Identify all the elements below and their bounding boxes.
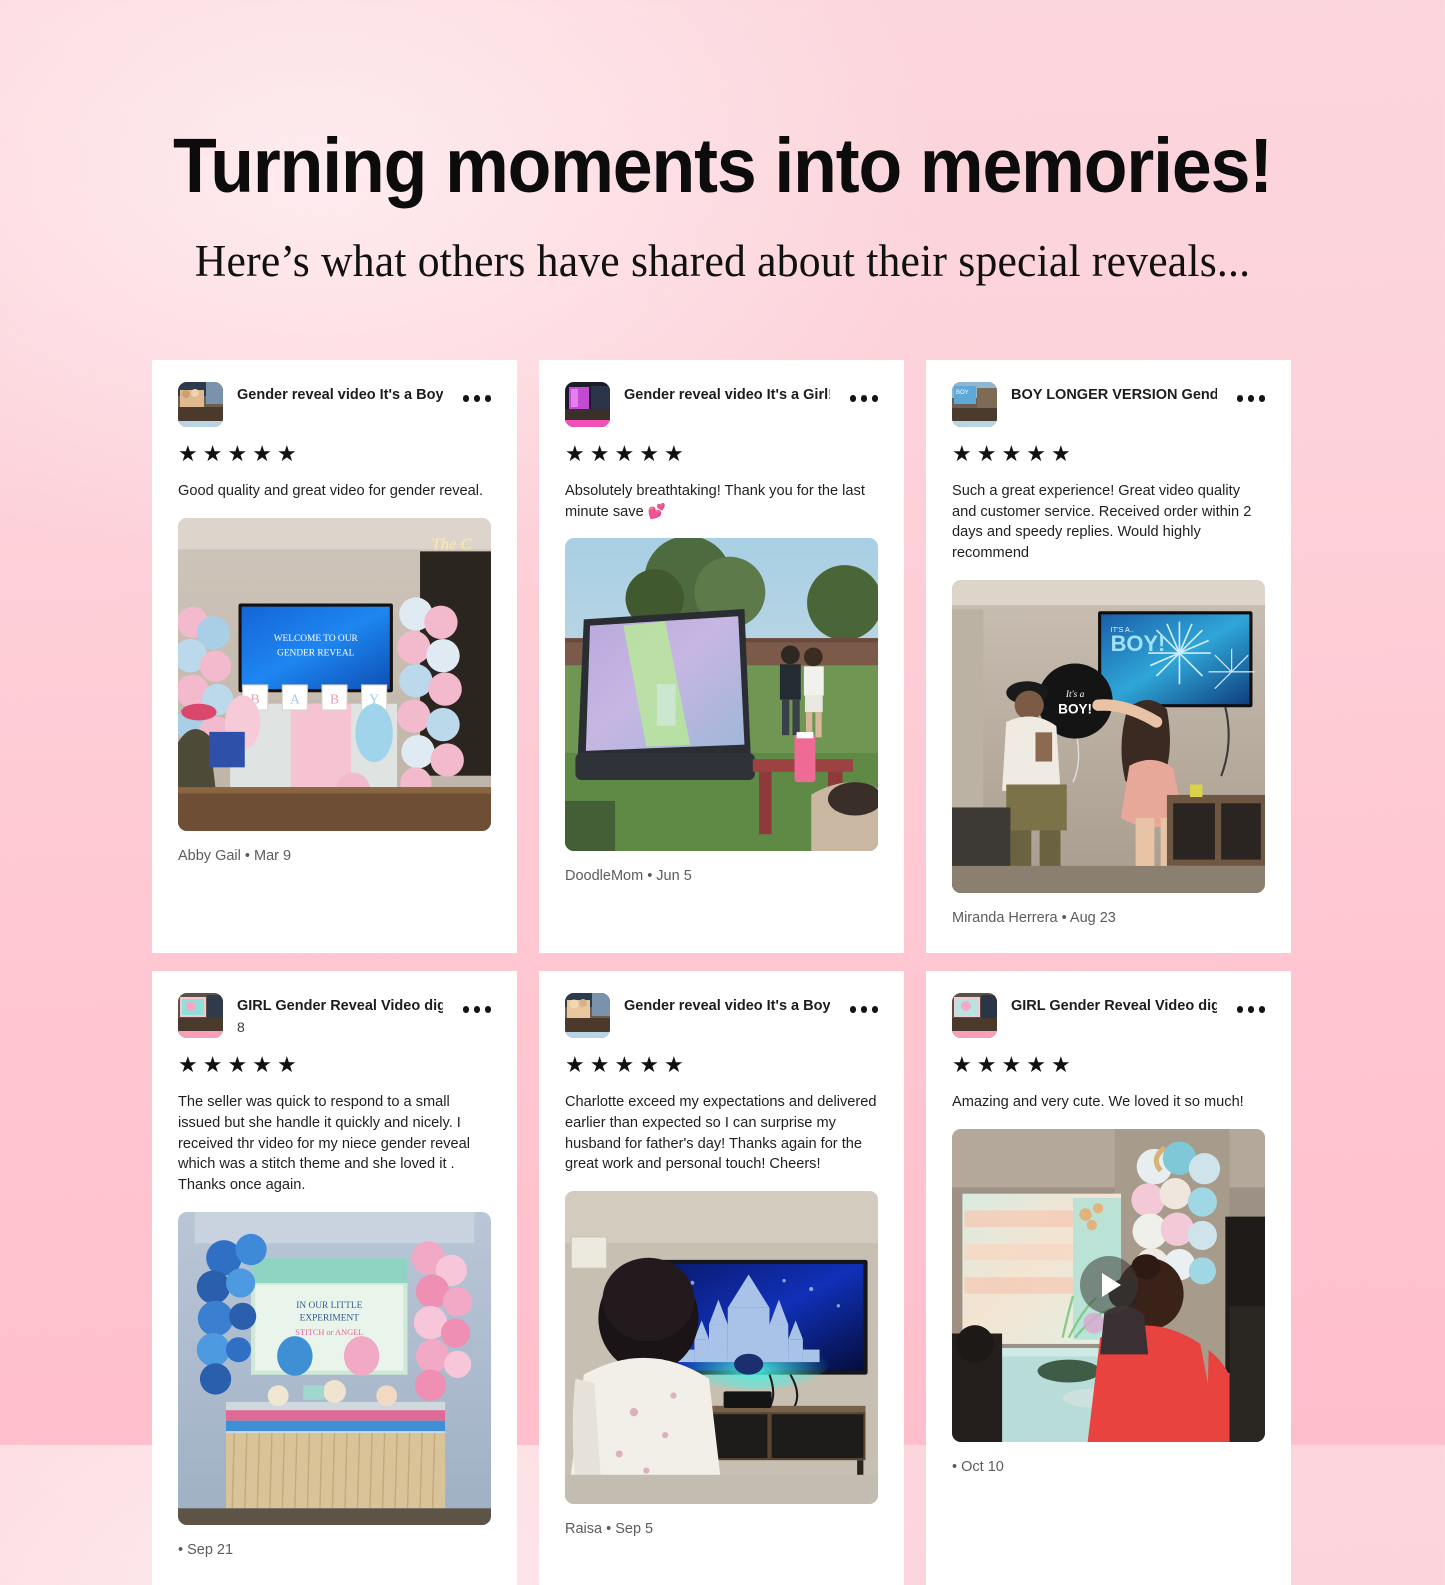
svg-text:IN OUR LITTLE: IN OUR LITTLE [296, 1301, 362, 1311]
review-meta: Abby Gail • Mar 9 [178, 848, 491, 865]
product-thumbnail[interactable] [952, 993, 997, 1038]
svg-text:BOY!: BOY! [1058, 701, 1092, 716]
review-card-header: GIRL Gender Reveal Video digital ... [952, 993, 1265, 1038]
more-horizontal-icon[interactable] [1237, 993, 1266, 1013]
product-thumbnail[interactable] [178, 382, 223, 427]
review-media[interactable]: The C WELCOME TO OUR GENDER REVEAL B A B… [178, 518, 491, 831]
review-text: Such a great experience! Great video qua… [952, 481, 1265, 564]
star-icon: ★ [1051, 443, 1071, 465]
dot [1248, 395, 1255, 402]
svg-text:It's a: It's a [1065, 690, 1085, 700]
star-rating: ★★★★★ [952, 1054, 1265, 1076]
review-photo[interactable]: IT'S A.. BOY! It's a BOY! [952, 580, 1265, 893]
star-icon: ★ [1026, 1054, 1046, 1076]
dot [474, 395, 481, 402]
review-card: Gender reveal video It's a Boy! Vide... … [539, 971, 904, 1585]
review-card: GIRL Gender Reveal Video digital ... 8 ★… [152, 971, 517, 1585]
dot [850, 395, 857, 402]
product-title[interactable]: BOY LONGER VERSION Gender ... [1011, 386, 1217, 405]
star-icon: ★ [565, 443, 585, 465]
review-media[interactable]: IN OUR LITTLE EXPERIMENT STITCH or ANGEL [178, 1212, 491, 1525]
review-media[interactable] [952, 1129, 1265, 1442]
review-meta: Raisa • Sep 5 [565, 1521, 878, 1538]
dot [1259, 1006, 1266, 1013]
star-rating: ★★★★★ [178, 1054, 491, 1076]
product-title[interactable]: Gender reveal video It's a Girl! Vide... [624, 386, 830, 405]
review-text: Charlotte exceed my expectations and del… [565, 1092, 878, 1175]
dot [861, 395, 868, 402]
review-card: BOY BOY LONGER VERSION Gender ... ★★★★★ … [926, 360, 1291, 953]
star-icon: ★ [590, 1054, 610, 1076]
star-icon: ★ [227, 1054, 247, 1076]
dot [1237, 1006, 1244, 1013]
review-meta: DoodleMom • Jun 5 [565, 868, 878, 885]
star-icon: ★ [639, 1054, 659, 1076]
product-thumbnail[interactable] [178, 993, 223, 1038]
star-icon: ★ [614, 443, 634, 465]
star-rating: ★★★★★ [565, 443, 878, 465]
svg-text:The C: The C [432, 534, 473, 553]
dot [474, 1006, 481, 1013]
star-icon: ★ [977, 443, 997, 465]
review-text: Good quality and great video for gender … [178, 481, 491, 502]
review-card: GIRL Gender Reveal Video digital ... ★★★… [926, 971, 1291, 1585]
product-thumbnail[interactable] [565, 993, 610, 1038]
star-icon: ★ [178, 1054, 198, 1076]
review-photo[interactable] [565, 538, 878, 851]
product-thumbnail[interactable] [565, 382, 610, 427]
review-text: Amazing and very cute. We loved it so mu… [952, 1092, 1265, 1113]
star-icon: ★ [565, 1054, 585, 1076]
review-media[interactable]: IT'S A.. BOY! It's a BOY! [952, 580, 1265, 893]
more-horizontal-icon[interactable] [463, 993, 492, 1013]
review-photo[interactable]: IN OUR LITTLE EXPERIMENT STITCH or ANGEL [178, 1212, 491, 1525]
star-icon: ★ [277, 443, 297, 465]
dot [1259, 395, 1266, 402]
product-info: GIRL Gender Reveal Video digital ... 8 [237, 993, 443, 1038]
reviews-grid: Gender reveal video It's a Boy! Vide... … [152, 360, 1292, 1585]
more-horizontal-icon[interactable] [1237, 382, 1266, 402]
dot [872, 1006, 879, 1013]
star-rating: ★★★★★ [952, 443, 1265, 465]
review-card-header: Gender reveal video It's a Boy! Vide... [178, 382, 491, 427]
star-rating: ★★★★★ [178, 443, 491, 465]
star-icon: ★ [227, 443, 247, 465]
star-icon: ★ [952, 1054, 972, 1076]
star-icon: ★ [952, 443, 972, 465]
star-icon: ★ [252, 1054, 272, 1076]
star-icon: ★ [664, 443, 684, 465]
review-media[interactable] [565, 538, 878, 851]
product-title[interactable]: Gender reveal video It's a Boy! Vide... [624, 997, 830, 1016]
star-icon: ★ [664, 1054, 684, 1076]
more-horizontal-icon[interactable] [850, 993, 879, 1013]
star-icon: ★ [277, 1054, 297, 1076]
star-icon: ★ [1026, 443, 1046, 465]
star-icon: ★ [639, 443, 659, 465]
review-card-header: Gender reveal video It's a Boy! Vide... [565, 993, 878, 1038]
review-card-header: GIRL Gender Reveal Video digital ... 8 [178, 993, 491, 1038]
star-icon: ★ [203, 443, 223, 465]
star-icon: ★ [1051, 1054, 1071, 1076]
dot [463, 395, 470, 402]
product-subtitle: 8 [237, 1017, 443, 1038]
page-title: Turning moments into memories! [51, 128, 1395, 205]
product-info: Gender reveal video It's a Boy! Vide... [237, 382, 443, 405]
dot [861, 1006, 868, 1013]
svg-text:A: A [290, 691, 300, 706]
star-icon: ★ [977, 1054, 997, 1076]
review-photo[interactable]: The C WELCOME TO OUR GENDER REVEAL B A B… [178, 518, 491, 831]
dot [485, 1006, 492, 1013]
svg-text:BOY: BOY [956, 390, 969, 396]
dot [850, 1006, 857, 1013]
review-card-header: BOY BOY LONGER VERSION Gender ... [952, 382, 1265, 427]
star-icon: ★ [203, 1054, 223, 1076]
review-meta: • Sep 21 [178, 1542, 491, 1559]
svg-text:EXPERIMENT: EXPERIMENT [300, 1313, 360, 1323]
svg-text:B: B [330, 691, 339, 706]
star-rating: ★★★★★ [565, 1054, 878, 1076]
review-photo[interactable] [565, 1191, 878, 1504]
review-text: The seller was quick to respond to a sma… [178, 1092, 491, 1196]
review-meta: • Oct 10 [952, 1459, 1265, 1476]
product-info: BOY LONGER VERSION Gender ... [1011, 382, 1217, 405]
star-icon: ★ [252, 443, 272, 465]
dot [1248, 1006, 1255, 1013]
review-wall-page: Turning moments into memories! Here’s wh… [0, 0, 1445, 1445]
product-title[interactable]: GIRL Gender Reveal Video digital ... [237, 997, 443, 1016]
review-meta: Miranda Herrera • Aug 23 [952, 910, 1265, 927]
svg-text:WELCOME TO OUR: WELCOME TO OUR [274, 634, 359, 644]
review-card: Gender reveal video It's a Boy! Vide... … [152, 360, 517, 953]
review-card-header: Gender reveal video It's a Girl! Vide... [565, 382, 878, 427]
star-icon: ★ [614, 1054, 634, 1076]
star-icon: ★ [590, 443, 610, 465]
star-icon: ★ [1001, 1054, 1021, 1076]
svg-text:STITCH or ANGEL: STITCH or ANGEL [295, 1328, 363, 1337]
product-title[interactable]: Gender reveal video It's a Boy! Vide... [237, 386, 443, 405]
svg-text:GENDER REVEAL: GENDER REVEAL [277, 648, 355, 658]
product-info: GIRL Gender Reveal Video digital ... [1011, 993, 1217, 1016]
dot [485, 395, 492, 402]
more-horizontal-icon[interactable] [850, 382, 879, 402]
product-title[interactable]: GIRL Gender Reveal Video digital ... [1011, 997, 1217, 1016]
product-info: Gender reveal video It's a Girl! Vide... [624, 382, 830, 405]
page-subtitle: Here’s what others have shared about the… [22, 239, 1424, 284]
svg-text:BOY!: BOY! [1111, 631, 1166, 656]
product-info: Gender reveal video It's a Boy! Vide... [624, 993, 830, 1016]
dot [1237, 395, 1244, 402]
page-header: Turning moments into memories! Here’s wh… [0, 128, 1445, 284]
star-icon: ★ [1001, 443, 1021, 465]
dot [463, 1006, 470, 1013]
review-text: Absolutely breathtaking! Thank you for t… [565, 481, 878, 522]
review-card: Gender reveal video It's a Girl! Vide...… [539, 360, 904, 953]
review-media[interactable] [565, 1191, 878, 1504]
dot [872, 395, 879, 402]
star-icon: ★ [178, 443, 198, 465]
play-icon[interactable] [1080, 1256, 1138, 1314]
more-horizontal-icon[interactable] [463, 382, 492, 402]
product-thumbnail[interactable]: BOY [952, 382, 997, 427]
